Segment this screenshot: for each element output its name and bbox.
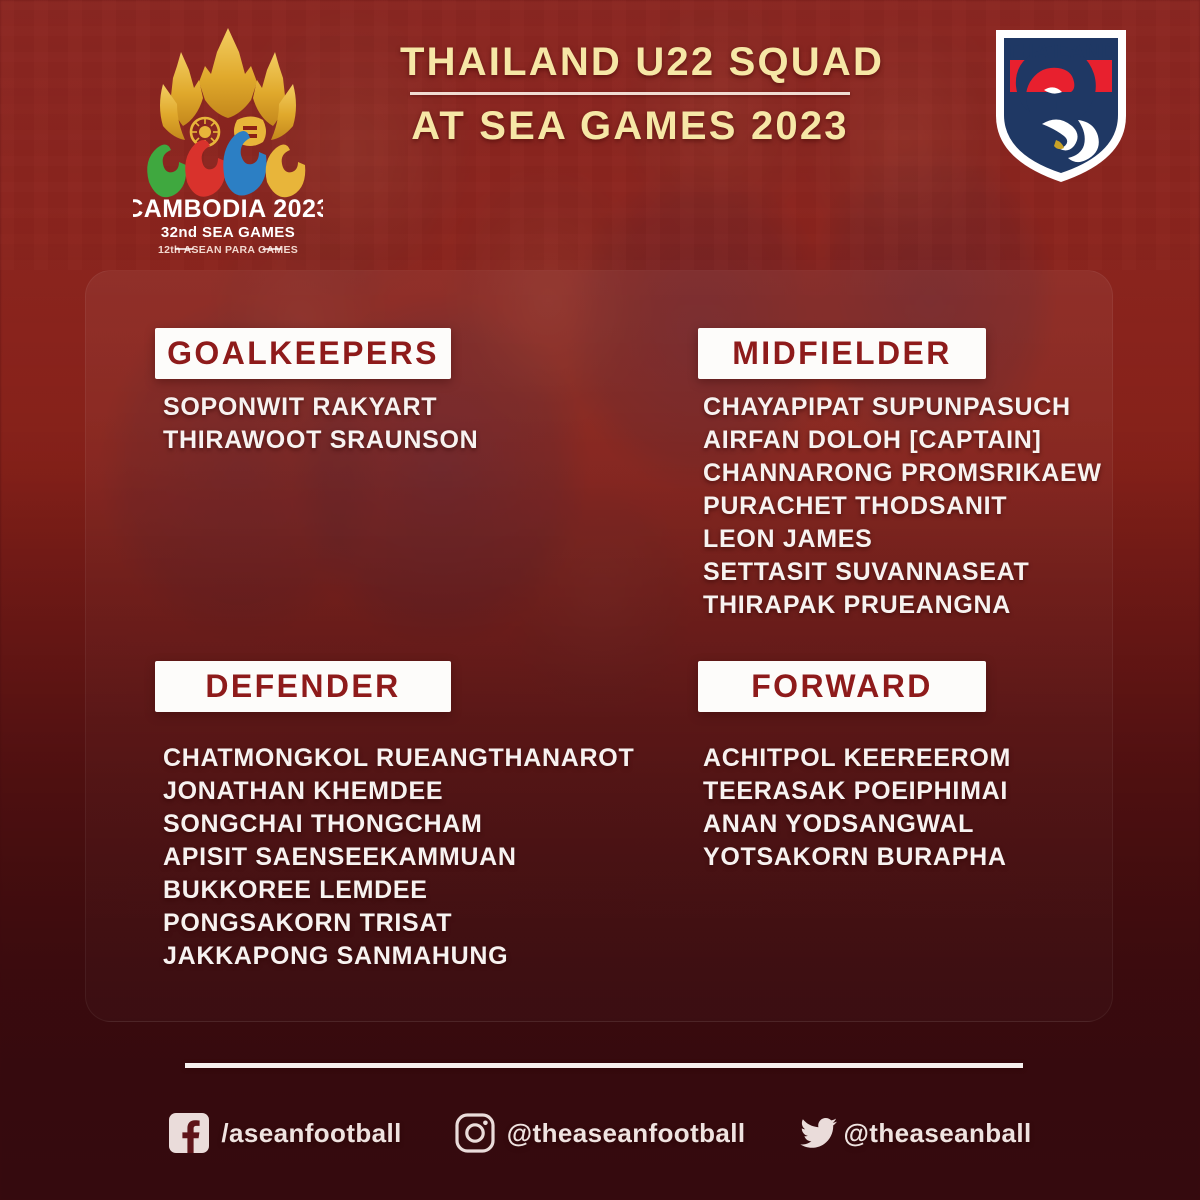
social-link-facebook[interactable]: /aseanfootball <box>168 1112 401 1154</box>
player-name: SOPONWIT RAKYART <box>163 391 625 424</box>
twitter-icon <box>798 1112 840 1154</box>
player-name: PONGSAKORN TRISAT <box>163 907 625 940</box>
player-name: THIRAWOOT SRAUNSON <box>163 424 625 457</box>
section-midfielder: MIDFIELDER CHAYAPIPAT SUPUNPASUCH AIRFAN… <box>695 328 1125 622</box>
facebook-icon <box>168 1112 210 1154</box>
section-forward: FORWARD ACHITPOL KEEREEROM TEERASAK POEI… <box>695 661 1125 874</box>
section-heading-label: GOALKEEPERS <box>167 335 439 371</box>
fa-badge-label: THAILAND <box>1006 40 1117 63</box>
player-name: APISIT SAENSEEKAMMUAN <box>163 841 625 874</box>
player-name: THIRAPAK PRUEANGNA <box>703 589 1125 622</box>
player-list-defender: CHATMONGKOL RUEANGTHANAROT JONATHAN KHEM… <box>155 742 625 973</box>
section-heading-goalkeepers: GOALKEEPERS <box>155 328 451 379</box>
squad-poster: CAMBODIA 2023 32nd SEA GAMES 12th ASEAN … <box>0 0 1200 1200</box>
section-goalkeepers: GOALKEEPERS SOPONWIT RAKYART THIRAWOOT S… <box>155 328 625 457</box>
sea-logo-main-text: CAMBODIA 2023 <box>133 195 323 223</box>
player-name: CHANNARONG PROMSRIKAEW <box>703 457 1125 490</box>
instagram-icon <box>454 1112 496 1154</box>
player-name: SETTASIT SUVANNASEAT <box>703 556 1125 589</box>
facebook-handle: /aseanfootball <box>221 1118 401 1149</box>
player-name: ACHITPOL KEEREEROM <box>703 742 1125 775</box>
sea-games-logo: CAMBODIA 2023 32nd SEA GAMES 12th ASEAN … <box>133 22 323 262</box>
player-name: JAKKAPONG SANMAHUNG <box>163 940 625 973</box>
player-list-midfielder: CHAYAPIPAT SUPUNPASUCH AIRFAN DOLOH [CAP… <box>695 391 1125 622</box>
player-name: ANAN YODSANGWAL <box>703 808 1125 841</box>
player-name: LEON JAMES <box>703 523 1125 556</box>
section-heading-label: FORWARD <box>751 668 933 704</box>
section-heading-midfielder: MIDFIELDER <box>698 328 986 379</box>
player-name: AIRFAN DOLOH [CAPTAIN] <box>703 424 1125 457</box>
sea-logo-sub-text-1: 32nd SEA GAMES <box>161 224 295 241</box>
section-defender: DEFENDER CHATMONGKOL RUEANGTHANAROT JONA… <box>155 661 625 973</box>
twitter-handle: @theaseanball <box>844 1118 1032 1149</box>
title-line-1: THAILAND U22 SQUAD <box>400 40 860 85</box>
section-heading-forward: FORWARD <box>698 661 986 712</box>
player-name: TEERASAK POEIPHIMAI <box>703 775 1125 808</box>
player-name: BUKKOREE LEMDEE <box>163 874 625 907</box>
sea-logo-sub-text-2: 12th ASEAN PARA GAMES <box>158 244 298 256</box>
title-divider <box>410 92 850 95</box>
social-links: /aseanfootball @theaseanfootball @thease… <box>0 1112 1200 1154</box>
instagram-handle: @theaseanfootball <box>507 1118 746 1149</box>
player-name: SONGCHAI THONGCHAM <box>163 808 625 841</box>
section-heading-label: MIDFIELDER <box>732 335 952 371</box>
player-list-goalkeepers: SOPONWIT RAKYART THIRAWOOT SRAUNSON <box>155 391 625 457</box>
player-name: PURACHET THODSANIT <box>703 490 1125 523</box>
player-list-forward: ACHITPOL KEEREEROM TEERASAK POEIPHIMAI A… <box>695 742 1125 874</box>
poster-title: THAILAND U22 SQUAD AT SEA GAMES 2023 <box>400 40 860 149</box>
section-heading-defender: DEFENDER <box>155 661 451 712</box>
social-link-twitter[interactable]: @theaseanball <box>798 1112 1032 1154</box>
section-heading-label: DEFENDER <box>205 668 400 704</box>
player-name: CHAYAPIPAT SUPUNPASUCH <box>703 391 1125 424</box>
player-name: YOTSAKORN BURAPHA <box>703 841 1125 874</box>
social-link-instagram[interactable]: @theaseanfootball <box>454 1112 746 1154</box>
title-line-2: AT SEA GAMES 2023 <box>400 104 860 149</box>
player-name: CHATMONGKOL RUEANGTHANAROT <box>163 742 625 775</box>
thailand-fa-badge: THAILAND <box>982 20 1140 190</box>
footer-divider <box>185 1063 1023 1068</box>
player-name: JONATHAN KHEMDEE <box>163 775 625 808</box>
